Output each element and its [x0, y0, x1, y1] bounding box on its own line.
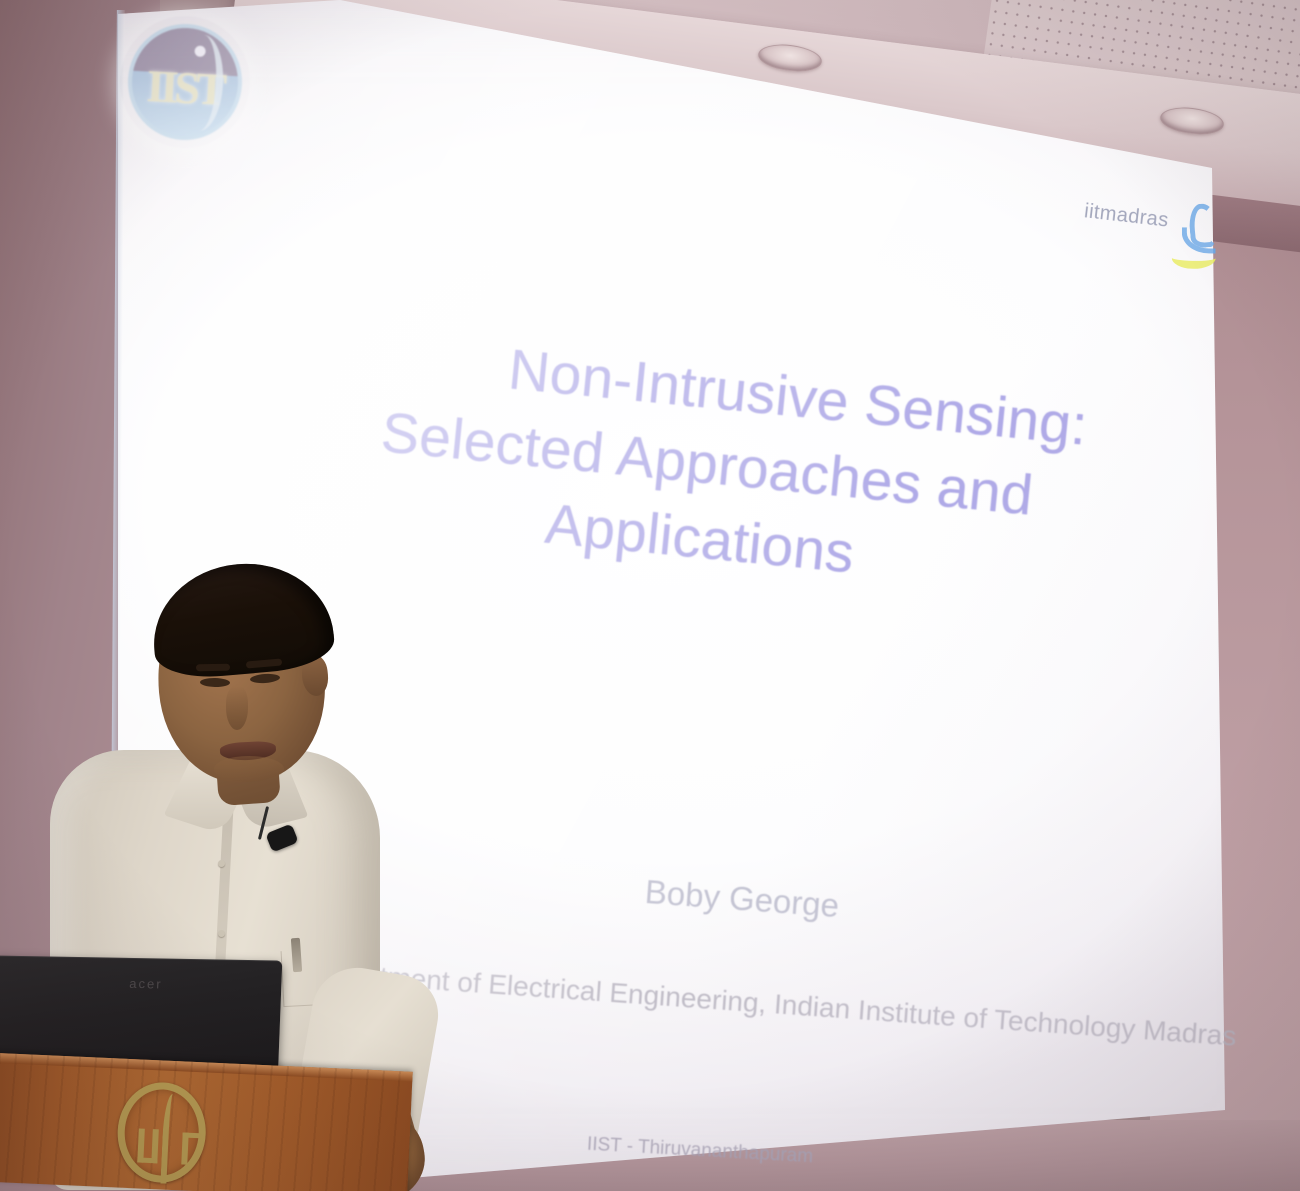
speaker-nose [226, 686, 248, 730]
iitmadras-mark-icon [1175, 201, 1234, 270]
presentation-photo-scene: IIST iitmadras Non-Intrusive Sensing: Se… [0, 0, 1300, 1191]
speaker-eye-left [200, 678, 230, 688]
laptop-brand-logo: acer [129, 976, 163, 992]
speaker-chin [214, 756, 284, 782]
podium [0, 1052, 413, 1191]
speaker-hair [148, 556, 337, 681]
speaker-eyebrow-left [196, 664, 230, 672]
iist-logo-icon: IIST [123, 19, 247, 145]
podium-wood-grain [0, 1052, 413, 1191]
